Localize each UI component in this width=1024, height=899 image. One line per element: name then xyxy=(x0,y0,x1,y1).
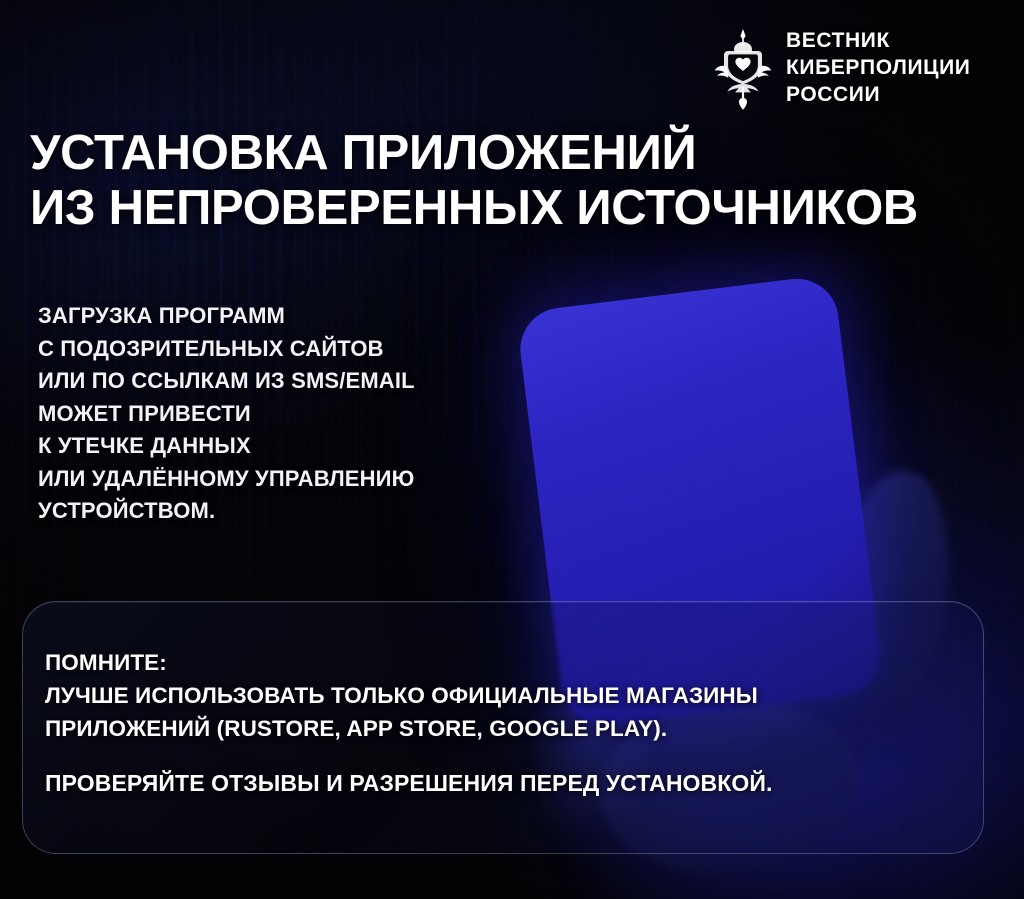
page-title-line-1: УСТАНОВКА ПРИЛОЖЕНИЙ xyxy=(30,126,696,180)
body-line: МОЖЕТ ПРИВЕСТИ xyxy=(38,398,415,431)
brand-name: ВЕСТНИК КИБЕРПОЛИЦИИ РОССИИ xyxy=(786,28,970,109)
advice-line-3: ПРИЛОЖЕНИЙ (RUSTORE, APP STORE, GOOGLE P… xyxy=(45,712,773,745)
page-title: УСТАНОВКА ПРИЛОЖЕНИЙ ИЗ НЕПРОВЕРЕННЫХ ИС… xyxy=(30,126,1015,236)
advice-line-4: ПРОВЕРЯЙТЕ ОТЗЫВЫ И РАЗРЕШЕНИЯ ПЕРЕД УСТ… xyxy=(45,767,773,800)
brand-line-2: КИБЕРПОЛИЦИИ xyxy=(786,55,970,82)
mvd-police-emblem-icon xyxy=(714,28,772,110)
page-title-line-2: ИЗ НЕПРОВЕРЕННЫХ ИСТОЧНИКОВ xyxy=(30,181,1015,236)
body-line: ИЛИ ПО ССЫЛКАМ ИЗ SMS/EMAIL xyxy=(38,365,415,398)
body-line: УСТРОЙСТВОМ. xyxy=(38,495,415,528)
brand-line-3: РОССИИ xyxy=(786,82,970,109)
body-line: ЗАГРУЗКА ПРОГРАММ xyxy=(38,300,415,333)
body-copy: ЗАГРУЗКА ПРОГРАММ С ПОДОЗРИТЕЛЬНЫХ САЙТО… xyxy=(38,300,415,528)
brand-line-1: ВЕСТНИК xyxy=(786,28,970,55)
infographic-poster: ВЕСТНИК КИБЕРПОЛИЦИИ РОССИИ УСТАНОВКА ПР… xyxy=(0,0,1024,899)
body-line: ИЛИ УДАЛЁННОМУ УПРАВЛЕНИЮ xyxy=(38,463,415,496)
advice-heading: ПОМНИТЕ: xyxy=(45,646,773,679)
advice-line-2: ЛУЧШЕ ИСПОЛЬЗОВАТЬ ТОЛЬКО ОФИЦИАЛЬНЫЕ МА… xyxy=(45,679,773,712)
brand-lockup: ВЕСТНИК КИБЕРПОЛИЦИИ РОССИИ xyxy=(714,28,970,110)
advice-spacer xyxy=(45,745,773,767)
body-line: С ПОДОЗРИТЕЛЬНЫХ САЙТОВ xyxy=(38,333,415,366)
advice-card: ПОМНИТЕ: ЛУЧШЕ ИСПОЛЬЗОВАТЬ ТОЛЬКО ОФИЦИ… xyxy=(22,601,984,854)
advice-card-text: ПОМНИТЕ: ЛУЧШЕ ИСПОЛЬЗОВАТЬ ТОЛЬКО ОФИЦИ… xyxy=(45,646,773,800)
body-line: К УТЕЧКЕ ДАННЫХ xyxy=(38,430,415,463)
